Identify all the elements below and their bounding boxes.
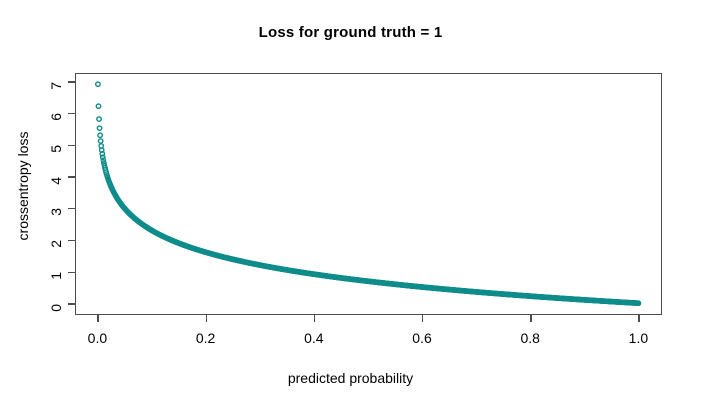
x-axis-title: predicted probability <box>0 370 701 386</box>
chart-title: Loss for ground truth = 1 <box>0 24 701 41</box>
x-tick-label-4: 0.8 <box>500 330 560 346</box>
x-tick-mark-2 <box>314 315 315 322</box>
y-tick-mark-2 <box>68 240 75 241</box>
x-tick-label-3: 0.6 <box>392 330 452 346</box>
x-tick-mark-4 <box>530 315 531 322</box>
y-axis-title: crossentropy loss <box>15 106 31 266</box>
plot-data-area <box>75 73 662 315</box>
y-tick-mark-6 <box>68 113 75 114</box>
x-tick-label-1: 0.2 <box>176 330 236 346</box>
x-tick-label-5: 1.0 <box>608 330 668 346</box>
x-tick-mark-5 <box>638 315 639 322</box>
x-tick-mark-3 <box>422 315 423 322</box>
y-tick-mark-5 <box>68 145 75 146</box>
y-tick-mark-4 <box>68 176 75 177</box>
chart-canvas: Loss for ground truth = 1 crossentropy l… <box>0 0 701 413</box>
y-tick-label-7: 7 <box>48 82 64 138</box>
scatter-series <box>75 73 662 315</box>
x-tick-mark-1 <box>206 315 207 322</box>
y-tick-mark-1 <box>68 272 75 273</box>
x-tick-label-0: 0.0 <box>67 330 127 346</box>
y-tick-mark-7 <box>68 81 75 82</box>
x-tick-label-2: 0.4 <box>284 330 344 346</box>
x-tick-mark-0 <box>97 315 98 322</box>
y-tick-mark-0 <box>68 303 75 304</box>
y-tick-mark-3 <box>68 208 75 209</box>
